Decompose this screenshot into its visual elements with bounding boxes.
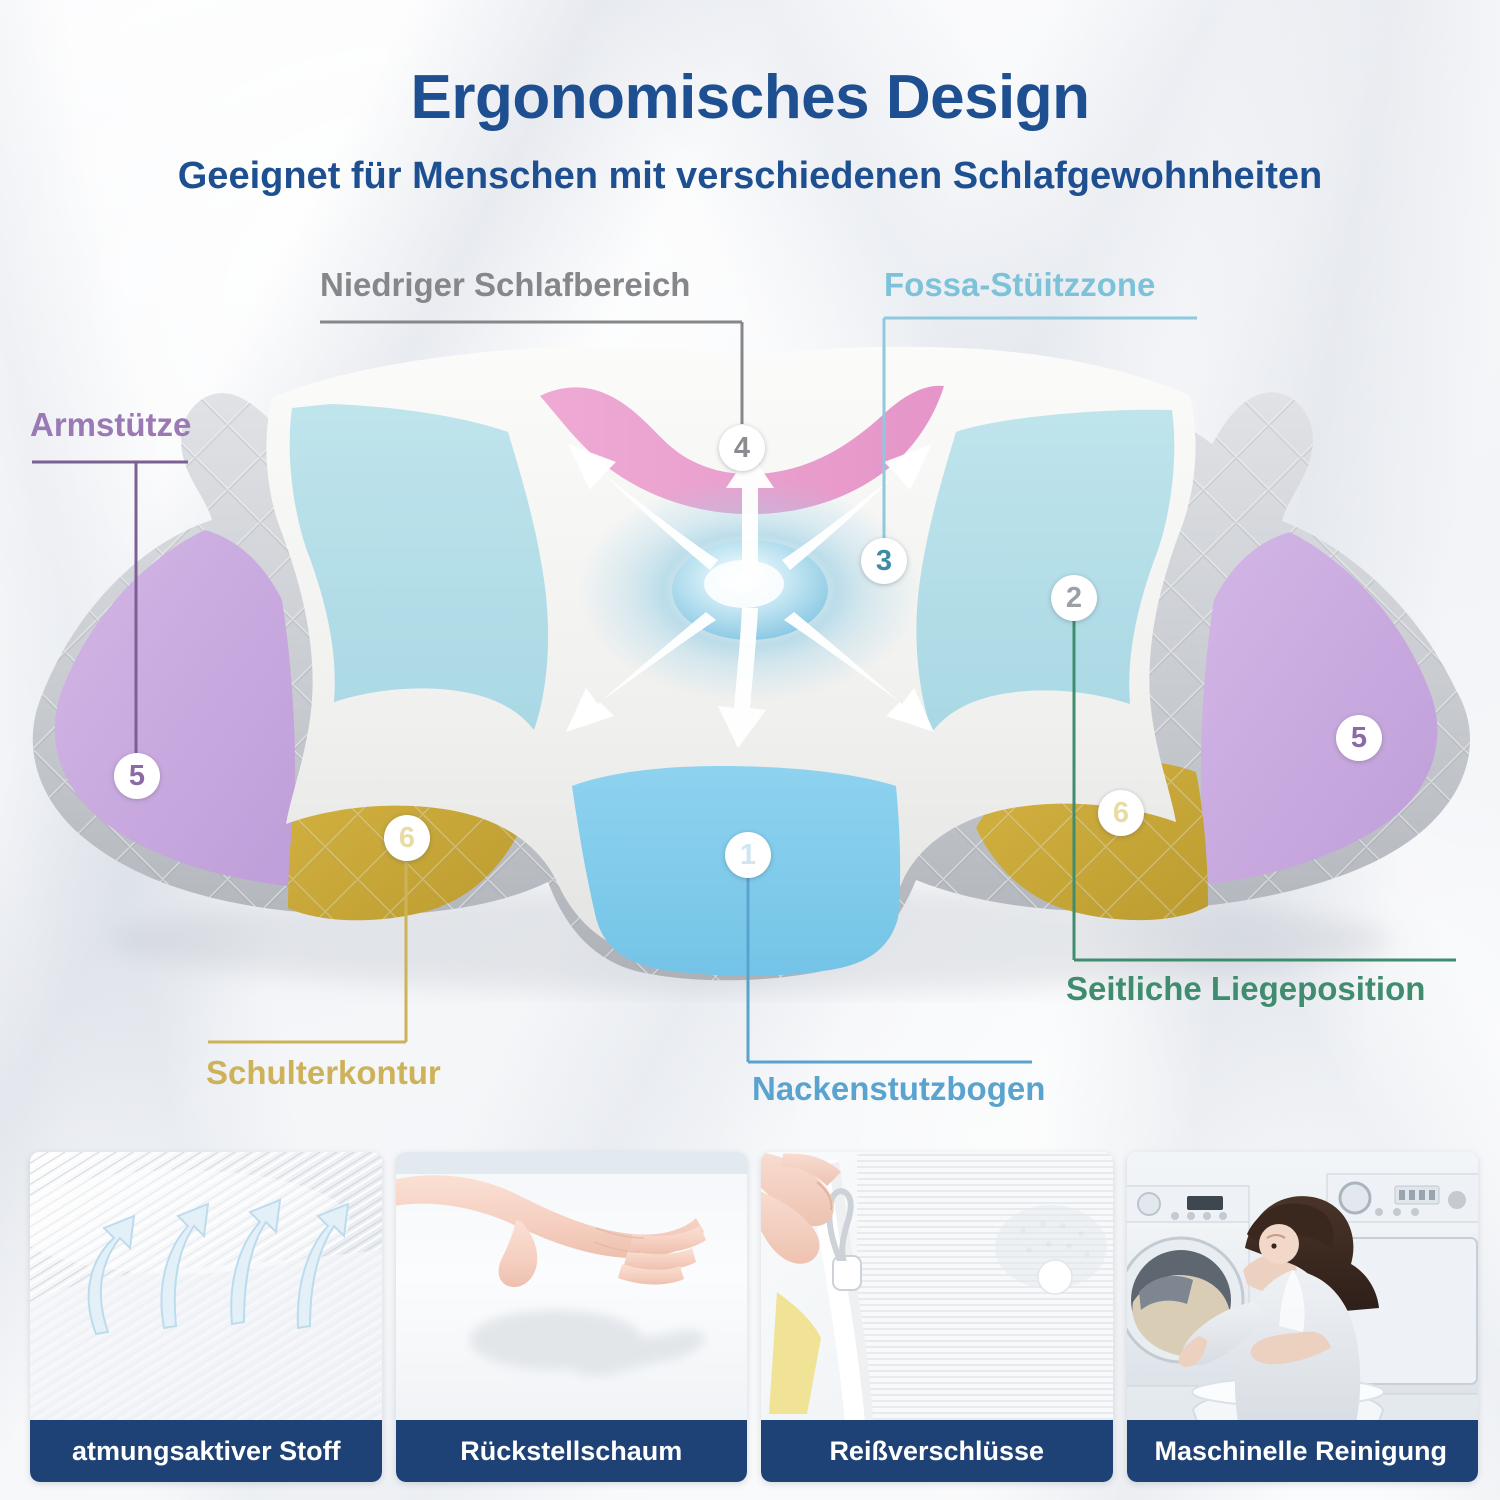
zippers-photo [761, 1152, 1113, 1426]
badge-5-left: 5 [114, 753, 160, 799]
feature-caption-machine-washable: Maschinelle Reinigung [1127, 1420, 1479, 1482]
callout-label-niedriger-schlafbereich: Niedriger Schlafbereich [320, 266, 690, 304]
callout-label-nackenstutzbogen: Nackenstutzbogen [752, 1070, 1045, 1108]
machine-washable-photo [1127, 1152, 1479, 1426]
feature-card-memory-foam[interactable]: Rückstellschaum [396, 1152, 748, 1482]
page-subtitle: Geeignet für Menschen mit verschiedenen … [0, 155, 1500, 198]
callout-label-schulterkontur: Schulterkontur [206, 1054, 441, 1092]
badge-4: 4 [719, 425, 765, 471]
memory-foam-photo [396, 1152, 748, 1426]
feature-card-breathable-fabric[interactable]: atmungsaktiver Stoff [30, 1152, 382, 1482]
callout-label-fossa-stuetzzone: Fossa-Stüitzzone [884, 266, 1155, 304]
feature-caption-zippers: Reißverschlüsse [761, 1420, 1113, 1482]
feature-caption-memory-foam: Rückstellschaum [396, 1420, 748, 1482]
callout-label-seitliche-liegeposition: Seitliche Liegeposition [1066, 970, 1425, 1008]
page-title: Ergonomisches Design [0, 62, 1500, 133]
badge-3: 3 [861, 538, 907, 584]
feature-card-machine-washable[interactable]: Maschinelle Reinigung [1127, 1152, 1479, 1482]
badge-6-left: 6 [384, 815, 430, 861]
feature-card-row: atmungsaktiver Stoff [30, 1152, 1478, 1482]
feature-card-zippers[interactable]: Reißverschlüsse [761, 1152, 1113, 1482]
badge-5-right: 5 [1336, 715, 1382, 761]
badge-6-right: 6 [1098, 790, 1144, 836]
callout-label-armstuetze: Armstütze [30, 406, 191, 444]
badge-2: 2 [1051, 575, 1097, 621]
feature-caption-breathable-fabric: atmungsaktiver Stoff [30, 1420, 382, 1482]
badge-1: 1 [725, 832, 771, 878]
breathable-fabric-photo [30, 1152, 382, 1426]
